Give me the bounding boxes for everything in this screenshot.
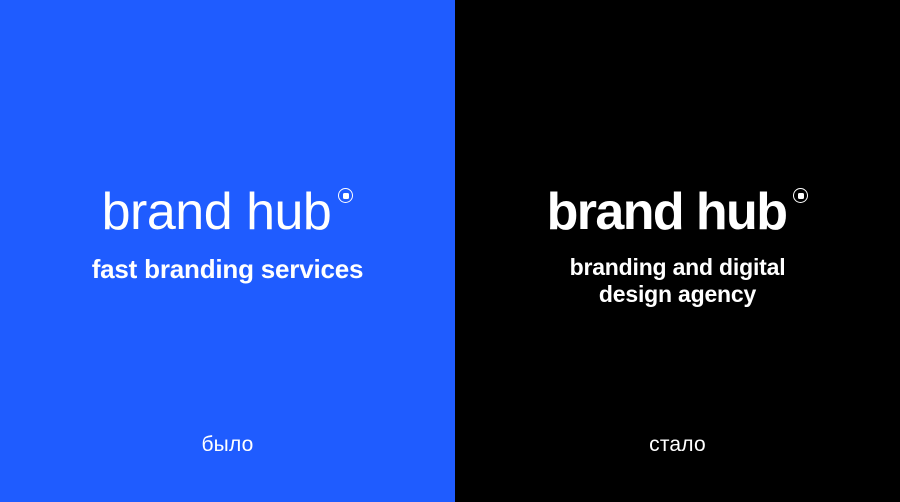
registered-trademark-icon [338, 188, 353, 203]
tagline-before: fast branding services [0, 254, 455, 285]
wordmark-text-before: brand hub [102, 183, 332, 241]
rebrand-comparison-image: brand hub fast branding services было br… [0, 0, 900, 502]
panel-before: brand hub fast branding services было [0, 0, 455, 502]
wordmark-text-after: brand hub [547, 183, 787, 241]
registered-trademark-icon [793, 188, 808, 203]
panel-after: brand hub branding and digital design ag… [455, 0, 900, 502]
wordmark-after: brand hub [547, 186, 809, 238]
logo-lockup-after: brand hub branding and digital design ag… [455, 186, 900, 308]
wordmark-before: brand hub [102, 186, 354, 238]
logo-lockup-before: brand hub fast branding services [0, 186, 455, 285]
caption-after: стало [455, 434, 900, 455]
tagline-after: branding and digital design agency [455, 254, 900, 308]
caption-before: было [0, 434, 455, 455]
